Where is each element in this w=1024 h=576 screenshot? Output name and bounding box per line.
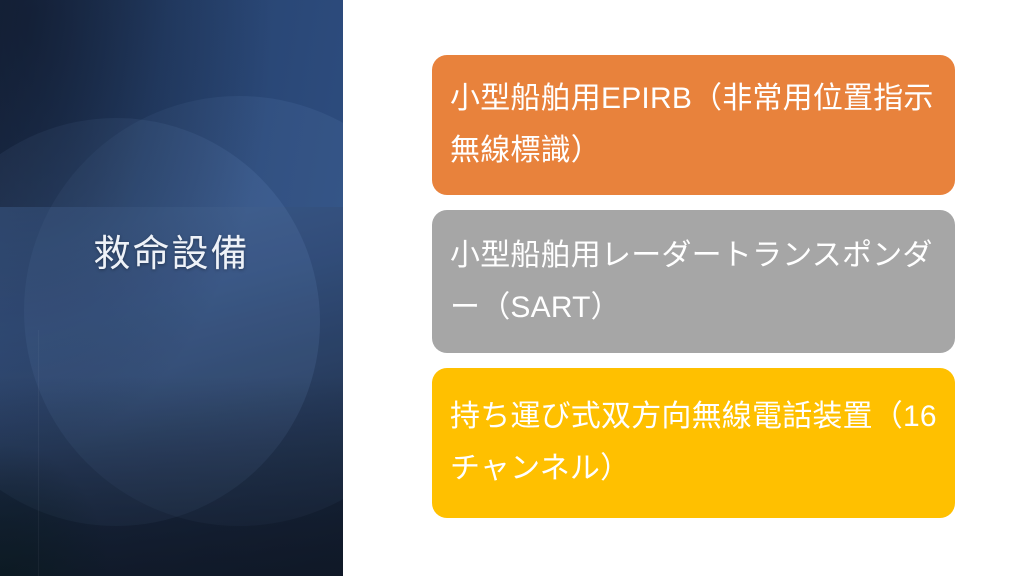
- slide-left-panel: 救命設備: [0, 0, 343, 576]
- item-label-portable-vhf: 持ち運び式双方向無線電話装置（16チャンネル）: [450, 391, 937, 495]
- slide-content-area: 小型船舶用EPIRB（非常用位置指示無線標識） 小型船舶用レーダートランスポンダ…: [343, 0, 1024, 576]
- item-box-epirb[interactable]: 小型船舶用EPIRB（非常用位置指示無線標識）: [432, 55, 955, 195]
- item-label-epirb: 小型船舶用EPIRB（非常用位置指示無線標識）: [450, 73, 937, 177]
- item-label-sart: 小型船舶用レーダートランスポンダー（SART）: [450, 230, 937, 334]
- slide-title: 救命設備: [0, 232, 343, 276]
- presentation-slide: 救命設備 小型船舶用EPIRB（非常用位置指示無線標識） 小型船舶用レーダートラ…: [0, 0, 1024, 576]
- item-box-sart[interactable]: 小型船舶用レーダートランスポンダー（SART）: [432, 210, 955, 353]
- panel-vignette: [0, 0, 343, 576]
- item-box-portable-vhf[interactable]: 持ち運び式双方向無線電話装置（16チャンネル）: [432, 368, 955, 518]
